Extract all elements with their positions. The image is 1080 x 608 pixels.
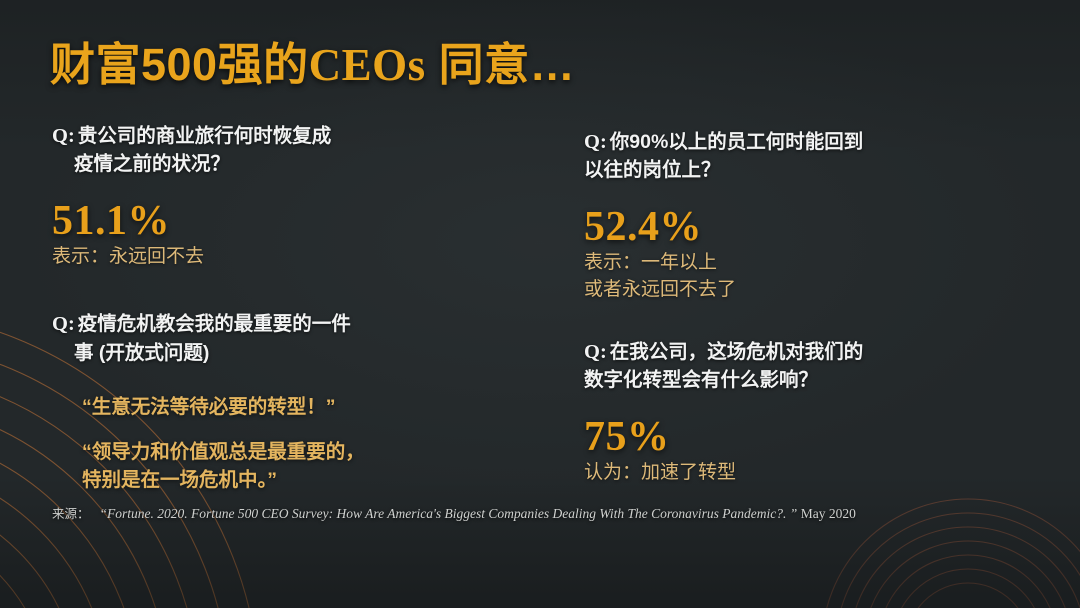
stat-value: 51.1%: [52, 199, 522, 243]
question-text-1: 在我公司，这场危机对我们的: [610, 341, 864, 363]
question-line-1: Q:在我公司，这场危机对我们的: [584, 338, 1014, 367]
quote-1: “生意无法等待必要的转型！”: [52, 393, 522, 421]
stat-caption: 表示：永远回不去: [52, 243, 522, 271]
question-line-1: Q:疫情危机教会我的最重要的一件: [52, 310, 522, 339]
page-title: 财富500强的CEOs 同意…: [50, 28, 575, 93]
right-question-block-2: Q:在我公司，这场危机对我们的 数字化转型会有什么影响？ 75% 认为：加速了转…: [584, 338, 1014, 486]
source-citation: “Fortune. 2020. Fortune 500 CEO Survey: …: [100, 506, 798, 521]
left-question-block-1: Q:贵公司的商业旅行何时恢复成 疫情之前的状况？ 51.1% 表示：永远回不去: [52, 122, 522, 270]
question-line-2: 数字化转型会有什么影响？: [584, 367, 1014, 395]
question-prefix: Q:: [584, 341, 607, 363]
question-text-1: 你90%以上的员工何时能回到: [610, 131, 864, 153]
stat-caption-line-1: 表示：一年以上: [584, 249, 1014, 277]
quote-2-line-1: “领导力和价值观总是最重要的，: [52, 438, 522, 466]
title-part-cn-1: 财富500强的: [50, 39, 309, 90]
question-line-2: 事 (开放式问题): [52, 340, 522, 368]
stat-caption-line-2: 或者永远回不去了: [584, 276, 1014, 304]
question-prefix: Q:: [52, 313, 75, 335]
title-part-latin: CEOs: [309, 40, 426, 90]
right-question-block-1: Q:你90%以上的员工何时能回到 以往的岗位上？ 52.4% 表示：一年以上 或…: [584, 128, 1014, 304]
question-text-1: 疫情危机教会我的最重要的一件: [78, 313, 351, 335]
question-prefix: Q:: [52, 125, 75, 147]
left-column: Q:贵公司的商业旅行何时恢复成 疫情之前的状况？ 51.1% 表示：永远回不去 …: [52, 122, 522, 494]
source-date: May 2020: [801, 506, 856, 521]
title-part-cn-2: 同意…: [439, 39, 576, 90]
question-line-2: 以往的岗位上？: [584, 157, 1014, 185]
question-text-2: 事 (开放式问题): [74, 342, 209, 364]
stat-value: 52.4%: [584, 205, 1014, 249]
question-line-1: Q:贵公司的商业旅行何时恢复成: [52, 122, 522, 151]
question-line-2: 疫情之前的状况？: [52, 151, 522, 179]
question-text-2: 以往的岗位上？: [584, 159, 721, 181]
source-footnote: 来源：“Fortune. 2020. Fortune 500 CEO Surve…: [52, 503, 856, 522]
question-prefix: Q:: [584, 131, 607, 153]
stat-caption: 认为：加速了转型: [584, 459, 1014, 487]
question-text-2: 疫情之前的状况？: [74, 153, 230, 175]
slide-canvas: 财富500强的CEOs 同意… Q:贵公司的商业旅行何时恢复成 疫情之前的状况？…: [0, 0, 1080, 608]
stat-value: 75%: [584, 415, 1014, 459]
source-label: 来源：: [52, 507, 90, 521]
right-column: Q:你90%以上的员工何时能回到 以往的岗位上？ 52.4% 表示：一年以上 或…: [584, 128, 1014, 486]
question-text-1: 贵公司的商业旅行何时恢复成: [78, 125, 332, 147]
quote-2-line-2: 特别是在一场危机中。”: [52, 466, 522, 494]
question-text-2: 数字化转型会有什么影响？: [584, 369, 818, 391]
question-line-1: Q:你90%以上的员工何时能回到: [584, 128, 1014, 157]
left-question-block-2: Q:疫情危机教会我的最重要的一件 事 (开放式问题) “生意无法等待必要的转型！…: [52, 310, 522, 494]
